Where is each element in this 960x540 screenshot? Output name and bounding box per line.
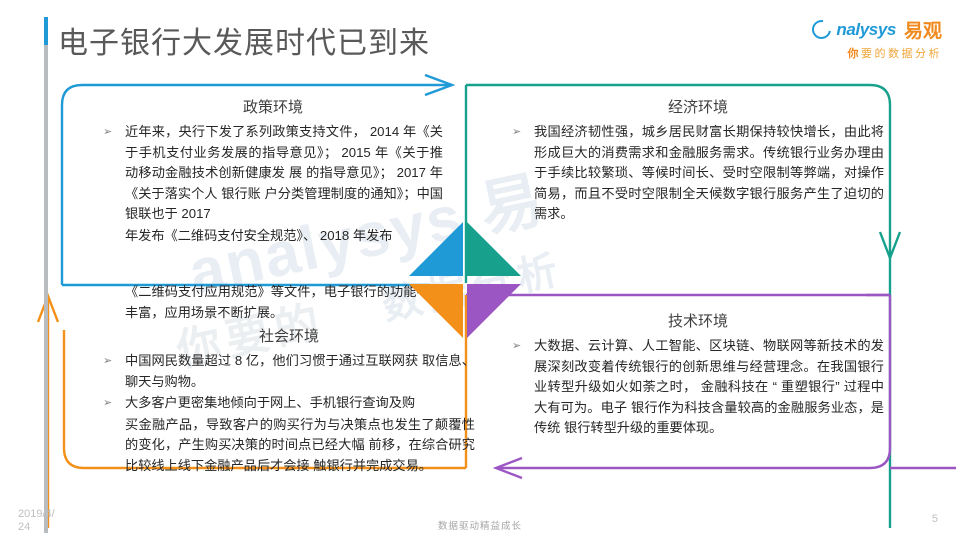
brand-logo: nalysys 易观 你要的数据分析 bbox=[812, 16, 942, 61]
technology-triangle bbox=[467, 284, 521, 338]
quadrant-policy-continuation: 年发布《二维码支付安全规范》、 2018 年发布 bbox=[125, 226, 443, 247]
quadrant-society-overflow-text: 买金融产品，导致客户的购买行为与决策点也发生了颠覆性的变化，产生购买决策的时间点… bbox=[125, 415, 475, 477]
quadrant-policy-bullet-1: 近年来，央行下发了系列政策支持文件， 2014 年《关于手机支付业务发展的指导意… bbox=[125, 122, 443, 225]
quadrant-economy-heading: 经济环境 bbox=[512, 96, 884, 117]
quadrant-policy-overflow-text: 《二维码支付应用规范》等文件，电子银行的功能不断丰富，应用场景不断扩展。 bbox=[125, 282, 443, 323]
quadrant-policy: 政策环境 ➢ 近年来，央行下发了系列政策支持文件， 2014 年《关于手机支付业… bbox=[103, 96, 443, 247]
logo-en-text: nalysys bbox=[836, 20, 896, 40]
quadrant-policy-heading: 政策环境 bbox=[103, 96, 443, 117]
logo-cn-text: 易观 bbox=[904, 16, 942, 43]
quadrant-society-bullets: ➢ 中国网民数量超过 8 亿，他们习惯于通过互联网获 取信息、聊天与购物。 ➢ … bbox=[103, 351, 475, 476]
bullet-arrow-icon: ➢ bbox=[103, 351, 125, 371]
bullet-arrow-icon: ➢ bbox=[103, 393, 125, 413]
quadrant-economy-bullets: ➢ 我国经济韧性强，城乡居民财富长期保持较快增长，由此将形成巨大的消费需求和金融… bbox=[512, 122, 884, 225]
economy-triangle bbox=[467, 222, 521, 276]
left-accent-bar-highlight bbox=[44, 17, 48, 45]
list-item: ➢ 我国经济韧性强，城乡居民财富长期保持较快增长，由此将形成巨大的消费需求和金融… bbox=[512, 122, 884, 225]
list-item: ➢ 中国网民数量超过 8 亿，他们习惯于通过互联网获 取信息、聊天与购物。 bbox=[103, 351, 475, 392]
center-pinwheel bbox=[403, 218, 527, 342]
list-item-overflow: 《二维码支付应用规范》等文件，电子银行的功能不断丰富，应用场景不断扩展。 bbox=[103, 282, 443, 323]
quadrant-technology-bullet-1: 大数据、云计算、人工智能、区块链、物联网等新技术的发展深刻改变着传统银行的创新思… bbox=[534, 336, 884, 439]
logo-tagline-accent: 你 bbox=[848, 48, 862, 60]
quadrant-policy-overflow: 《二维码支付应用规范》等文件，电子银行的功能不断丰富，应用场景不断扩展。 bbox=[103, 282, 443, 324]
quadrant-society: 社会环境 ➢ 中国网民数量超过 8 亿，他们习惯于通过互联网获 取信息、聊天与购… bbox=[103, 325, 475, 477]
list-item: ➢ 大数据、云计算、人工智能、区块链、物联网等新技术的发展深刻改变着传统银行的创… bbox=[512, 336, 884, 439]
slide-canvas: analysys 易 数据分析 你要的 电子银行大发展时代已到来 nalysys… bbox=[0, 0, 960, 540]
list-item: ➢ 大多客户更密集地倾向于网上、手机银行查询及购 bbox=[103, 393, 475, 414]
page-title: 电子银行大发展时代已到来 bbox=[58, 18, 430, 62]
quadrant-technology: 技术环境 ➢ 大数据、云计算、人工智能、区块链、物联网等新技术的发展深刻改变着传… bbox=[512, 310, 884, 440]
quadrant-policy-bullets: ➢ 近年来，央行下发了系列政策支持文件， 2014 年《关于手机支付业务发展的指… bbox=[103, 122, 443, 246]
logo-tagline-rest: 要的数据分析 bbox=[861, 48, 942, 60]
left-accent-bar bbox=[44, 17, 48, 533]
list-item-continuation: 年发布《二维码支付安全规范》、 2018 年发布 bbox=[103, 226, 443, 247]
bullet-arrow-icon: ➢ bbox=[103, 122, 125, 142]
logo-tagline: 你要的数据分析 bbox=[812, 45, 942, 61]
quadrant-society-bullet-2: 大多客户更密集地倾向于网上、手机银行查询及购 bbox=[125, 393, 475, 414]
list-item-overflow: 买金融产品，导致客户的购买行为与决策点也发生了颠覆性的变化，产生购买决策的时间点… bbox=[103, 415, 475, 477]
quadrant-technology-heading: 技术环境 bbox=[512, 310, 884, 331]
list-item: ➢ 近年来，央行下发了系列政策支持文件， 2014 年《关于手机支付业务发展的指… bbox=[103, 122, 443, 225]
footer-slogan: 数据驱动精益成长 bbox=[0, 518, 960, 532]
analysys-swirl-icon bbox=[809, 16, 835, 42]
quadrant-economy: 经济环境 ➢ 我国经济韧性强，城乡居民财富长期保持较快增长，由此将形成巨大的消费… bbox=[512, 96, 884, 226]
quadrant-society-bullet-1: 中国网民数量超过 8 亿，他们习惯于通过互联网获 取信息、聊天与购物。 bbox=[125, 351, 475, 392]
quadrant-technology-bullets: ➢ 大数据、云计算、人工智能、区块链、物联网等新技术的发展深刻改变着传统银行的创… bbox=[512, 336, 884, 439]
society-triangle bbox=[409, 284, 463, 338]
quadrant-economy-bullet-1: 我国经济韧性强，城乡居民财富长期保持较快增长，由此将形成巨大的消费需求和金融服务… bbox=[534, 122, 884, 225]
policy-triangle bbox=[409, 222, 463, 276]
page-number: 5 bbox=[932, 513, 938, 525]
bullet-arrow-icon: ➢ bbox=[512, 122, 534, 142]
